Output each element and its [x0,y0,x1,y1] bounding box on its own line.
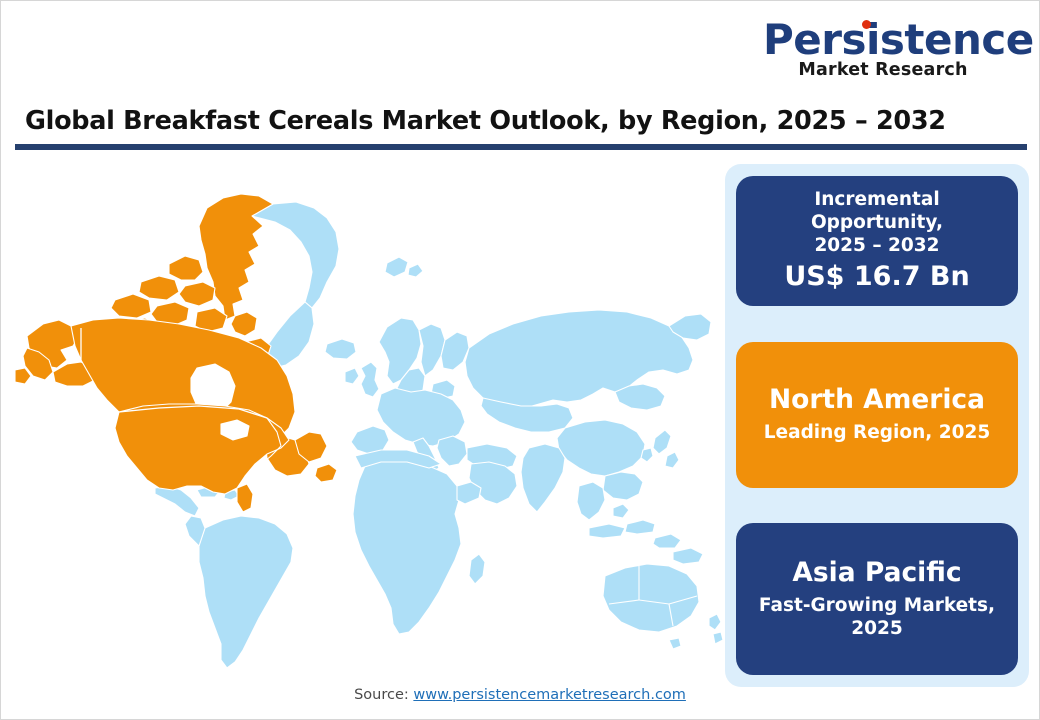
source-url-link[interactable]: www.persistencemarketresearch.com [413,687,686,703]
red-dot-icon [862,20,871,29]
title-underline-rule [15,144,1027,150]
incremental-opportunity-line2: 2025 – 2032 [814,235,939,258]
fast-growing-region-name: Asia Pacific [792,558,961,588]
fast-growing-region-caption: Fast-Growing Markets, 2025 [750,594,1004,640]
incremental-opportunity-card: Incremental Opportunity, 2025 – 2032 US$… [736,176,1018,306]
company-logo: Persistence Market Research [763,19,1003,80]
incremental-opportunity-value: US$ 16.7 Bn [784,261,969,293]
infographic-page: Persistence Market Research Global Break… [0,0,1040,720]
incremental-opportunity-line1: Incremental Opportunity, [750,189,1004,235]
logo-brand-label: Persistence [763,15,1034,64]
source-label: Source: [354,687,409,703]
logo-tagline: Market Research [763,62,1003,80]
world-map-svg [9,156,723,676]
logo-brand-text: Persistence [763,19,1034,61]
leading-region-name: North America [769,385,985,415]
leading-region-card: North America Leading Region, 2025 [736,342,1018,488]
leading-region-caption: Leading Region, 2025 [764,421,990,444]
fast-growing-region-card: Asia Pacific Fast-Growing Markets, 2025 [736,523,1018,675]
source-line: Source: www.persistencemarketresearch.co… [1,687,1039,703]
world-map [9,156,723,676]
stats-panel: Incremental Opportunity, 2025 – 2032 US$… [725,164,1029,687]
page-title: Global Breakfast Cereals Market Outlook,… [25,106,946,136]
